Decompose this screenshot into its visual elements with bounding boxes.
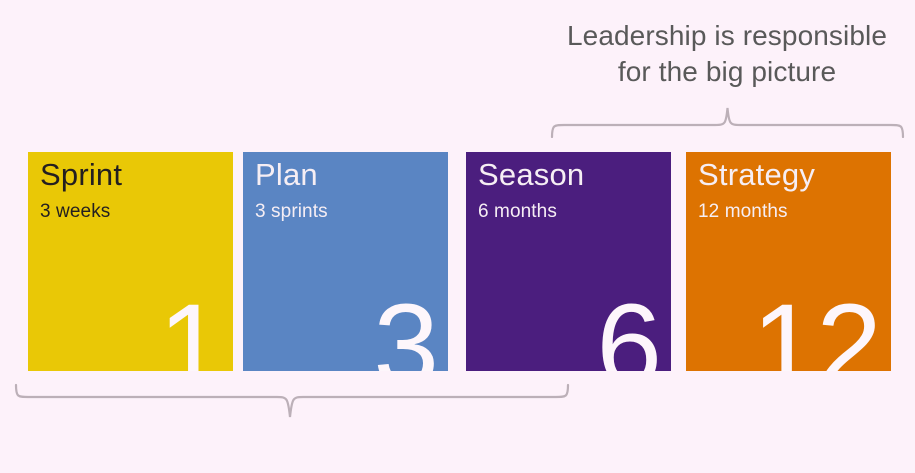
diagram-canvas: Leadership is responsible for the big pi…: [0, 0, 915, 473]
box-subtitle: 12 months: [698, 202, 788, 223]
timeframe-box-row: Sprint 3 weeks 1 Plan 3 sprints 3 Season…: [0, 152, 915, 372]
timeframe-box-sprint[interactable]: Sprint 3 weeks 1: [28, 152, 233, 371]
box-number: 6: [596, 287, 661, 371]
box-title: Sprint: [40, 158, 122, 192]
timeframe-box-strategy[interactable]: Strategy 12 months 12: [686, 152, 891, 371]
leadership-annotation-text: Leadership is responsible for the big pi…: [538, 18, 915, 91]
box-title: Strategy: [698, 158, 815, 192]
box-title: Plan: [255, 158, 318, 192]
teams-brace: [14, 383, 570, 419]
leadership-brace: [550, 106, 905, 138]
box-number: 3: [373, 287, 438, 371]
box-subtitle: 3 sprints: [255, 202, 328, 223]
box-number: 12: [752, 287, 881, 371]
box-subtitle: 3 weeks: [40, 202, 110, 223]
box-subtitle: 6 months: [478, 202, 557, 223]
box-number: 1: [158, 287, 223, 371]
box-title: Season: [478, 158, 584, 192]
timeframe-box-plan[interactable]: Plan 3 sprints 3: [243, 152, 448, 371]
timeframe-box-season[interactable]: Season 6 months 6: [466, 152, 671, 371]
